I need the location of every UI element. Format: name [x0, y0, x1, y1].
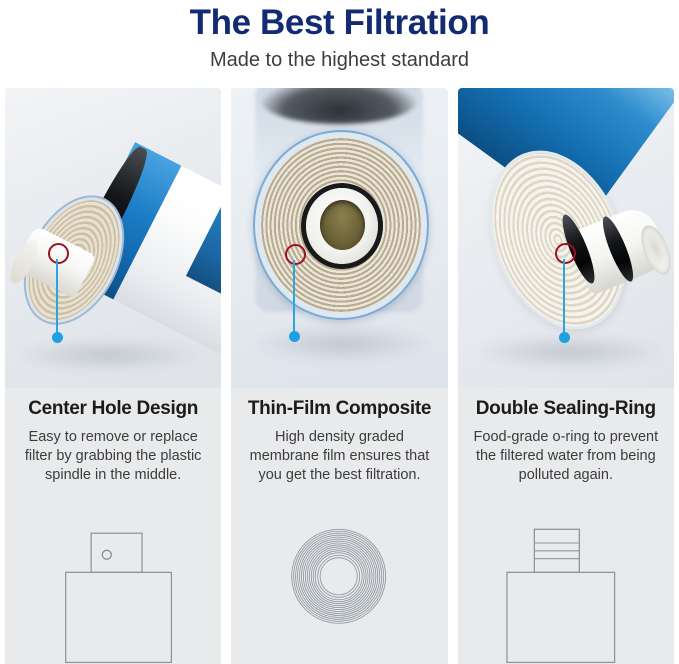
feature-panels: Center Hole Design Easy to remove or rep… — [0, 88, 679, 664]
feature-title: Thin-Film Composite — [239, 396, 439, 422]
page-title: The Best Filtration — [0, 0, 679, 44]
feature-description: Food-grade o-ring to prevent the filtere… — [466, 428, 666, 485]
product-photo-center-hole-design — [5, 88, 221, 388]
feature-text-block: Thin-Film Composite High density graded … — [231, 388, 447, 485]
feature-text-block: Center Hole Design Easy to remove or rep… — [5, 388, 221, 485]
header: The Best Filtration Made to the highest … — [0, 0, 679, 88]
feature-panel-center-hole-design[interactable]: Center Hole Design Easy to remove or rep… — [5, 88, 221, 664]
line-diagram-spindle-with-double-oring — [458, 514, 674, 664]
photo-shadow — [13, 338, 203, 372]
photo-shadow — [472, 334, 668, 370]
line-diagram-concentric-spiral-rings — [231, 514, 447, 664]
photo-shadow — [249, 324, 435, 364]
feature-title: Center Hole Design — [13, 396, 213, 422]
page-subtitle: Made to the highest standard — [0, 44, 679, 72]
feature-description: High density graded membrane film ensure… — [239, 428, 439, 485]
product-photo-thin-film-composite — [231, 88, 447, 388]
feature-description: Easy to remove or replace filter by grab… — [13, 428, 213, 485]
feature-panel-double-sealing-ring[interactable]: Double Sealing-Ring Food-grade o-ring to… — [458, 88, 674, 664]
feature-text-block: Double Sealing-Ring Food-grade o-ring to… — [458, 388, 674, 485]
line-diagram-spindle-with-center-hole — [5, 514, 221, 664]
feature-panel-thin-film-composite[interactable]: Thin-Film Composite High density graded … — [231, 88, 447, 664]
product-photo-double-sealing-ring — [458, 88, 674, 388]
feature-title: Double Sealing-Ring — [466, 396, 666, 422]
